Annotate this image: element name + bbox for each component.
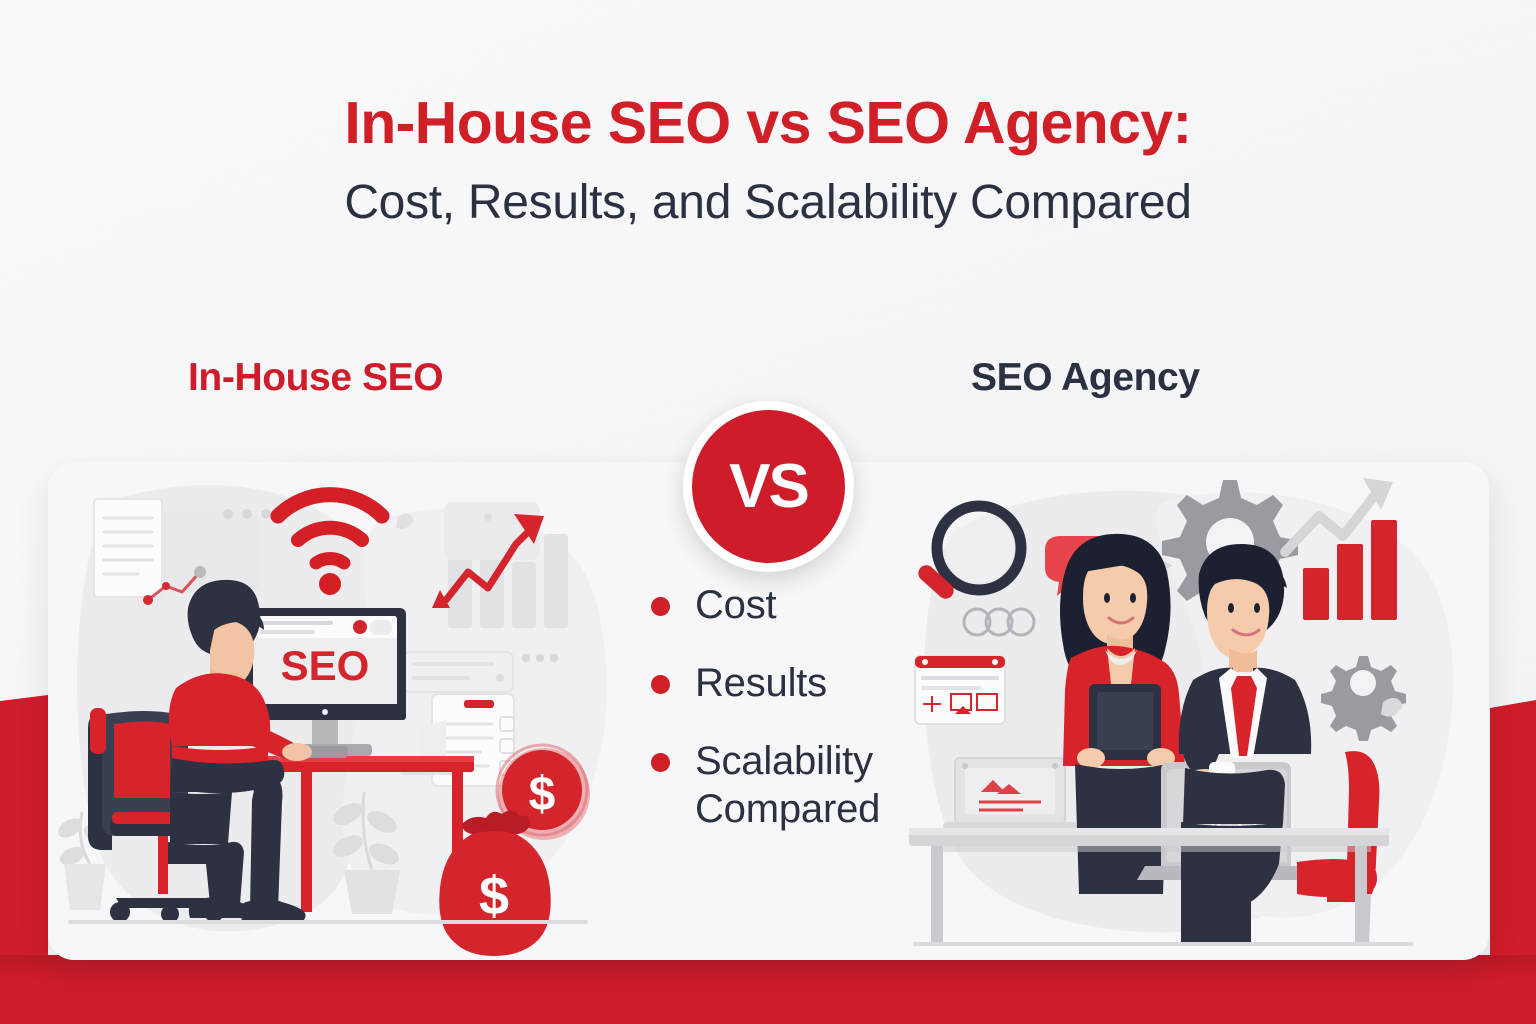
- list-item: Results: [651, 659, 951, 708]
- monitor-screen-label: SEO: [281, 642, 370, 689]
- bullet-dot-icon: [651, 675, 670, 694]
- list-item-label: Scalability Compared: [695, 737, 951, 835]
- list-item: Cost: [651, 581, 951, 630]
- comparison-criteria-list: Cost Results Scalability Compared: [651, 581, 951, 863]
- in-house-seo-illustration: SEO: [48, 462, 648, 960]
- search-bar-graphic: [403, 652, 513, 692]
- column-heading-agency: SEO Agency: [971, 356, 1200, 400]
- seo-agency-illustration: SEO: [893, 462, 1489, 960]
- vs-badge-label: VS: [729, 456, 808, 518]
- list-item-label: Results: [695, 659, 827, 708]
- vs-badge: VS: [683, 401, 854, 572]
- right-illustration-panel: SEO: [893, 462, 1489, 960]
- ellipsis-dots: [223, 509, 271, 519]
- bullet-dot-icon: [651, 753, 670, 772]
- column-heading-in-house: In-House SEO: [188, 356, 443, 400]
- svg-text:$: $: [529, 768, 556, 821]
- list-item: Scalability Compared: [651, 737, 951, 835]
- vs-badge-circle: VS: [692, 410, 845, 563]
- page-title: In-House SEO vs SEO Agency:: [0, 92, 1536, 155]
- svg-text:$: $: [479, 866, 509, 926]
- left-illustration-panel: SEO: [48, 462, 648, 960]
- infographic-canvas: In-House SEO vs SEO Agency: Cost, Result…: [0, 0, 1536, 1024]
- bullet-dot-icon: [651, 597, 670, 616]
- red-accent-band-left: [0, 695, 48, 963]
- header-block: In-House SEO vs SEO Agency: Cost, Result…: [0, 92, 1536, 228]
- list-item-label: Cost: [695, 581, 776, 630]
- laptop-icon-left: [943, 758, 1077, 830]
- wifi-dot: [319, 573, 341, 595]
- red-footer-band: [0, 955, 1536, 1024]
- page-subtitle: Cost, Results, and Scalability Compared: [0, 177, 1536, 229]
- ellipsis-dots-2: [522, 654, 558, 662]
- red-accent-band-right: [1490, 700, 1536, 962]
